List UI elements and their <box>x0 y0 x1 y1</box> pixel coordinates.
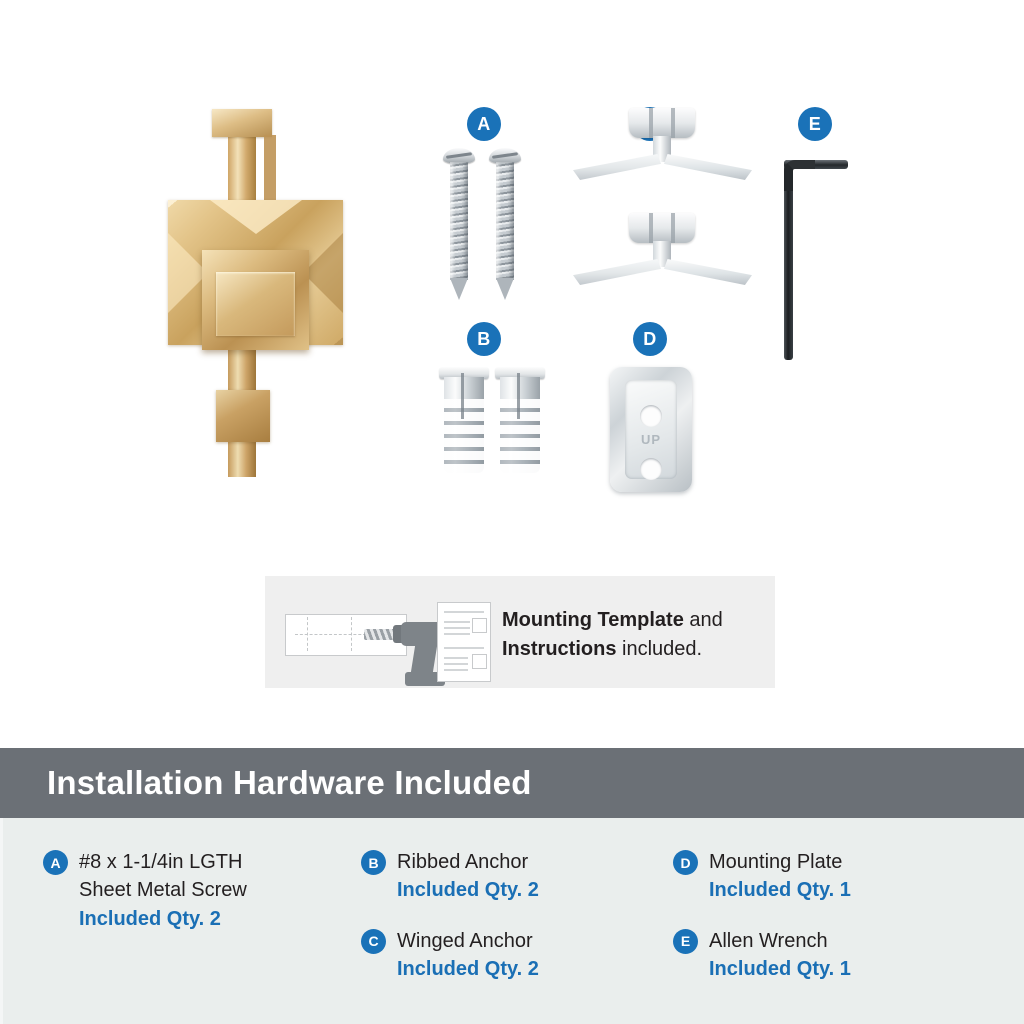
hardware-item-a: A #8 x 1-1/4in LGTH Sheet Metal Screw In… <box>43 848 363 933</box>
allen-wrench-icon <box>770 108 890 368</box>
drill-grip <box>410 642 437 676</box>
ribbed-anchor-icon <box>440 325 550 490</box>
drill-template-icon <box>285 598 485 668</box>
ribbed-anchor-2 <box>498 367 542 475</box>
mounting-plate: UP <box>610 367 692 492</box>
list-badge-d: D <box>673 850 698 875</box>
list-badge-b: B <box>361 850 386 875</box>
hardware-name-c: Winged Anchor <box>397 927 539 955</box>
screw-2 <box>492 148 518 296</box>
hardware-name-a: #8 x 1-1/4in LGTH Sheet Metal Screw <box>79 848 247 905</box>
list-badge-a: A <box>43 850 68 875</box>
screw-1 <box>446 148 472 296</box>
mounting-hole-bottom <box>640 458 662 480</box>
ribbed-anchor-1 <box>442 367 486 475</box>
hardware-header-bar: Installation Hardware Included <box>0 748 1024 818</box>
product-image-robe-hook <box>150 95 365 490</box>
hardware-item-b: B Ribbed Anchor Included Qty. 2 <box>361 848 661 905</box>
hardware-list-panel: A #8 x 1-1/4in LGTH Sheet Metal Screw In… <box>0 818 1024 1024</box>
instruction-sheet-icon <box>437 602 491 682</box>
template-label-rest: and <box>684 609 723 631</box>
mounting-plate-icon: UP <box>605 325 700 495</box>
winged-anchor-2 <box>575 213 750 298</box>
mounting-template-banner: Mounting Template and Instructions inclu… <box>265 576 775 688</box>
infographic-canvas: A B C <box>0 0 1024 1024</box>
hardware-column-2: B Ribbed Anchor Included Qty. 2 C Winged… <box>361 818 661 984</box>
hardware-column-1: A #8 x 1-1/4in LGTH Sheet Metal Screw In… <box>43 818 363 933</box>
instructions-label-bold: Instructions <box>502 638 616 660</box>
hardware-name-e: Allen Wrench <box>709 927 851 955</box>
hardware-qty-d: Included Qty. 1 <box>709 876 851 904</box>
template-label-bold: Mounting Template <box>502 609 684 631</box>
screw-icon <box>440 108 540 298</box>
hardware-qty-e: Included Qty. 1 <box>709 955 851 983</box>
instructions-label-rest: included. <box>616 638 702 660</box>
winged-anchor-1 <box>575 108 750 193</box>
wrench-bend <box>784 160 815 191</box>
hardware-qty-b: Included Qty. 2 <box>397 876 539 904</box>
product-square-knob <box>202 250 309 350</box>
product-bottom-cap <box>216 390 270 442</box>
list-badge-e: E <box>673 929 698 954</box>
mounting-plate-face: UP <box>625 380 677 479</box>
hardware-heading: Installation Hardware Included <box>47 764 532 802</box>
product-top-cap <box>212 109 272 137</box>
hardware-column-3: D Mounting Plate Included Qty. 1 E Allen… <box>673 818 973 984</box>
hardware-qty-a: Included Qty. 2 <box>79 905 247 933</box>
mounting-hole-top <box>640 405 662 427</box>
winged-anchor-icon <box>575 108 750 308</box>
hardware-item-c: C Winged Anchor Included Qty. 2 <box>361 927 661 984</box>
hardware-name-d: Mounting Plate <box>709 848 851 876</box>
up-arrow-marking: UP <box>625 432 677 447</box>
hardware-item-d: D Mounting Plate Included Qty. 1 <box>673 848 973 905</box>
hardware-qty-c: Included Qty. 2 <box>397 955 539 983</box>
hardware-item-e: E Allen Wrench Included Qty. 1 <box>673 927 973 984</box>
list-badge-c: C <box>361 929 386 954</box>
hardware-name-b: Ribbed Anchor <box>397 848 539 876</box>
mounting-template-text: Mounting Template and Instructions inclu… <box>502 606 723 664</box>
